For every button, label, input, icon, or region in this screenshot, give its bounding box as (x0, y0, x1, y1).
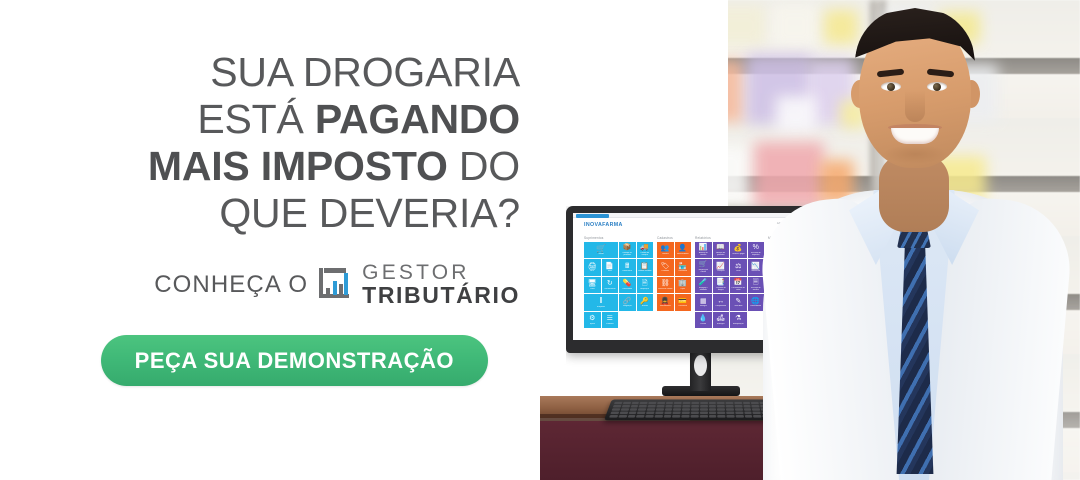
dashboard-tile-label: Nota (608, 270, 612, 272)
keyboard-key[interactable] (717, 405, 725, 407)
keyboard-key[interactable] (681, 415, 689, 418)
dashboard-tile[interactable]: 📖Análise de produtos (713, 242, 730, 259)
keyboard-key[interactable] (630, 405, 638, 407)
box-icon: 📦 (623, 244, 632, 251)
dashboard-tile-label: Convênios (678, 305, 687, 307)
keyboard-key[interactable] (655, 412, 663, 415)
keyboard-key[interactable] (627, 415, 636, 418)
dashboard-tile-label: Pedido Telefone (638, 270, 652, 272)
keyboard-key[interactable] (619, 412, 628, 415)
dashboard-tile-label: Vendas por cliente (696, 269, 711, 273)
dashboard-tile-label: Comparativo (715, 305, 726, 307)
dashboard-tile-label: Transferência (604, 288, 616, 290)
chin-shadow (883, 144, 947, 164)
request-demo-button[interactable]: PEÇA SUA DEMONSTRAÇÃO (101, 335, 488, 386)
dashboard-tile[interactable]: 🖨NF-e (584, 259, 601, 276)
dashboard-tile[interactable]: 🖩Conferência (619, 259, 636, 276)
logo-word-tributario: TRIBUTÁRIO (362, 284, 520, 307)
keyboard-key[interactable] (613, 405, 622, 407)
keyboard-key[interactable] (648, 402, 656, 404)
keyboard-key[interactable] (622, 402, 630, 404)
users-icon: 👥 (661, 245, 670, 252)
dashboard-tile-label: Requisição (640, 288, 649, 290)
grid-icon: ▦ (700, 298, 707, 305)
page-title: SUA DROGARIA ESTÁ PAGANDO MAIS IMPOSTO D… (148, 49, 520, 237)
book-icon: 📖 (716, 244, 725, 251)
keyboard-key[interactable] (665, 405, 673, 407)
keyboard-key[interactable] (640, 402, 648, 404)
keyboard-key[interactable] (674, 405, 682, 407)
keyboard-key[interactable] (683, 402, 691, 404)
tile-grid: 👥Clientes👤Fornecedores🏷Produtos🏪Convênio… (657, 242, 691, 311)
monitor-icon: 🖥 (588, 280, 597, 287)
dashboard-tile-label: Manipulação (733, 323, 744, 325)
pen-icon: ✎ (735, 298, 741, 305)
dashboard-tile-label: Análise de vendas (696, 252, 711, 256)
dashboard-tile-label: Conferência (622, 270, 632, 272)
keyboard-key[interactable] (734, 402, 742, 404)
dashboard-tile-label: Lucro (736, 270, 741, 272)
bar-2 (333, 281, 337, 295)
keyboard-key[interactable] (657, 402, 665, 404)
keyboard-key[interactable] (664, 412, 672, 415)
keyboard-key[interactable] (620, 408, 629, 410)
cart-icon: 🛒 (596, 245, 606, 253)
file-icon: 🗎 (642, 280, 648, 287)
document-icon: 📄 (605, 263, 614, 270)
dashboard-tile[interactable]: 📈Compras (713, 259, 730, 276)
keyboard-key[interactable] (726, 405, 734, 407)
left-content: SUA DROGARIA ESTÁ PAGANDO MAIS IMPOSTO D… (40, 0, 520, 480)
barcode-icon: ‖ (599, 297, 602, 305)
dashboard-tile[interactable]: ‖Etiquetas (584, 294, 618, 311)
keyboard-key[interactable] (663, 415, 671, 418)
dashboard-tile[interactable]: ⚙Ajuste (584, 312, 601, 329)
keyboard-key[interactable] (699, 415, 707, 418)
keyboard-key[interactable] (656, 408, 664, 410)
sync-icon: ↻ (607, 280, 613, 287)
keyboard-key[interactable] (674, 402, 682, 404)
keyboard-key[interactable] (656, 405, 664, 407)
dashboard-tile[interactable]: 🗎Requisição (637, 277, 654, 294)
tile-group-header: Cadastros (657, 236, 691, 240)
dashboard-tile-label: Convênios (678, 270, 687, 272)
app-title: INOVAFARMA (584, 222, 623, 228)
keyboard-key[interactable] (648, 405, 656, 407)
keyboard-key[interactable] (610, 412, 619, 415)
dashboard-tile[interactable]: 🔑Acesso (637, 294, 654, 311)
headline-line-3-bold: MAIS IMPOSTO (148, 143, 448, 189)
flask-icon: 🧪 (699, 279, 708, 286)
keyboard-key[interactable] (638, 408, 646, 410)
dashboard-tile[interactable]: ☰Produtos (602, 312, 619, 329)
bar-chart-top-rule (324, 268, 346, 273)
keyboard-key[interactable] (709, 412, 717, 415)
shuffle-icon: ↔ (717, 298, 724, 305)
bar-chart-bars (326, 281, 343, 295)
dashboard-tile-label: Estoque e validade (696, 287, 711, 291)
dashboard-tile[interactable]: 📋Pedido Telefone (637, 259, 654, 276)
bar-3 (339, 284, 343, 295)
dashboard-tile[interactable]: ⛓Planos de contas (657, 277, 674, 294)
monitor-stand-highlight (694, 355, 707, 376)
dashboard-tile-label: Entrada de produtos (620, 252, 635, 256)
dashboard-tile[interactable]: 👥Clientes (657, 242, 674, 259)
headline-line-4: QUE DEVERIA? (219, 190, 520, 236)
dashboard-tile[interactable]: ↔Comparativo (713, 294, 730, 311)
keyboard-key[interactable] (735, 412, 743, 415)
dashboard-tile[interactable]: 🛒Venda (584, 242, 618, 259)
dashboard-tile[interactable]: 📊Análise de vendas (695, 242, 712, 259)
keyboard-key[interactable] (673, 408, 681, 410)
logo-word-gestor: GESTOR (362, 262, 520, 283)
pupil-left (887, 83, 895, 91)
dashboard-tile-label: Planos de contas (658, 288, 673, 290)
keyboard-key[interactable] (717, 415, 725, 418)
keyboard-key[interactable] (631, 402, 639, 404)
dashboard-tile[interactable]: 🚚Pedido de compra (637, 242, 654, 259)
list-icon: ☰ (607, 315, 613, 322)
headline-line-2-bold: PAGANDO (315, 96, 520, 142)
promo-banner: INOVAFARMA Administrador Suprimentos🛒Ven… (0, 0, 1080, 480)
keyboard-key[interactable] (690, 415, 698, 418)
pill-icon: 💊 (623, 280, 632, 287)
dashboard-tile-label: Produtos (661, 270, 669, 272)
keyboard-key[interactable] (654, 415, 662, 418)
keyboard-key[interactable] (682, 405, 690, 407)
dashboard-tile-label: Caixa (590, 288, 595, 290)
keyboard-key[interactable] (665, 402, 673, 404)
dashboard-tile-label: Produtos (606, 323, 614, 325)
keyboard-key[interactable] (645, 415, 654, 418)
keyboard-key[interactable] (636, 415, 645, 418)
dashboard-tile-label: Venda (598, 253, 603, 255)
keyboard-key[interactable] (664, 408, 672, 410)
mortar-icon: ⚗ (735, 315, 741, 322)
dashboard-tile[interactable]: 📑Controle de drogas (713, 277, 730, 294)
logo-wordmark: GESTOR TRIBUTÁRIO (362, 262, 520, 307)
keyboard-key[interactable] (700, 402, 708, 404)
pharmacist-photo (745, 0, 1080, 480)
keyboard-key[interactable] (646, 412, 654, 415)
link-icon: 🔗 (623, 298, 632, 305)
keyboard-key[interactable] (637, 412, 645, 415)
dashboard-tile-label: Ajuste (590, 323, 595, 325)
tile-group: Cadastros👥Clientes👤Fornecedores🏷Produtos… (657, 236, 691, 311)
truck-icon: 🚚 (640, 244, 649, 251)
dashboard-tile-label: Fechamento de caixa (731, 287, 746, 291)
tile-grid: 🛒Venda📦Entrada de produtos🚚Pedido de com… (584, 242, 653, 329)
cart-report-icon: 🛒 (699, 261, 708, 268)
monitor-stand-neck (690, 351, 711, 391)
dashboard-tile-label: Perdas (700, 323, 706, 325)
chart-pie-icon: 📈 (716, 263, 725, 270)
dashboard-tile[interactable]: 📄Nota (602, 259, 619, 276)
dashboard-tile-label: Contas a pagar (732, 253, 745, 255)
app-browser-tab[interactable] (576, 214, 609, 218)
keyboard-key[interactable] (708, 408, 716, 410)
keyboard-key[interactable] (726, 415, 734, 418)
keyboard-key[interactable] (717, 402, 725, 404)
keyboard-key[interactable] (691, 408, 699, 410)
money-icon: 💰 (734, 245, 743, 252)
keyboard-key[interactable] (629, 408, 637, 410)
conheca-label: CONHEÇA O (154, 271, 308, 299)
dashboard-tile-label: Integração (623, 305, 632, 307)
dashboard-tile-label: Pedido de compra (637, 252, 652, 256)
headline-line-1: SUA DROGARIA (210, 49, 520, 95)
keyboard-key[interactable] (726, 402, 734, 404)
keyboard-key[interactable] (639, 405, 647, 407)
dashboard-tile-label: Funcionários (660, 305, 671, 307)
dashboard-tile[interactable]: 🔗Integração (619, 294, 636, 311)
keyboard-key[interactable] (735, 415, 743, 418)
keyboard-key[interactable] (735, 408, 743, 410)
dashboard-tile[interactable]: 📦Entrada de produtos (619, 242, 636, 259)
chart-bar-icon: 📊 (699, 244, 708, 251)
bar-chart-icon (319, 268, 357, 301)
printer-icon: 🖨 (588, 263, 597, 270)
dashboard-tile-label: Acesso (642, 305, 648, 307)
dashboard-tile[interactable]: 💧Perdas (695, 312, 712, 329)
keyboard-key[interactable] (708, 405, 716, 407)
keyboard-key[interactable] (609, 415, 618, 418)
bar-1 (326, 288, 330, 295)
keyboard-key[interactable] (691, 402, 699, 404)
keyboard-key[interactable] (614, 402, 622, 404)
settings-icon: ⚙ (589, 315, 595, 322)
dashboard-tile[interactable]: 🛒Vendas por cliente (695, 259, 712, 276)
dashboard-tile[interactable]: 🏢Lojas (675, 277, 692, 294)
keyboard-key[interactable] (726, 412, 734, 415)
dashboard-tile[interactable]: 🏪Convênios (675, 259, 692, 276)
drop-icon: 💧 (699, 315, 708, 322)
keyboard-key[interactable] (682, 412, 690, 415)
building-icon: 🏢 (678, 280, 687, 287)
store-icon: 🏪 (678, 263, 687, 270)
clipboard2-icon: 📑 (716, 279, 725, 286)
keyboard-key[interactable] (682, 408, 690, 410)
bar-4 (344, 273, 348, 295)
brand-lockup: CONHEÇA O GESTOR TRIBUTÁRIO (154, 262, 520, 307)
dashboard-tile[interactable]: ↻Transferência (602, 277, 619, 294)
dashboard-tile-label: Análise de produtos (713, 252, 728, 256)
card-icon: 💳 (678, 298, 687, 305)
keyboard-key[interactable] (672, 415, 680, 418)
gestor-tributario-logo: GESTOR TRIBUTÁRIO (319, 262, 520, 307)
nose (905, 90, 925, 122)
scale-icon: ⚖ (735, 263, 741, 270)
keyboard-key[interactable] (708, 402, 716, 404)
dashboard-tile-label: Sintegra (700, 305, 707, 307)
keyboard-key[interactable] (726, 408, 734, 410)
employee-icon: 💂 (661, 298, 670, 305)
keyboard-key[interactable] (709, 415, 717, 418)
sofa-icon: 🛋 (716, 315, 725, 322)
dashboard-tile-label: Etiquetas (597, 306, 605, 308)
dashboard-tile[interactable]: 💂Funcionários (657, 294, 674, 311)
keyboard-key[interactable] (700, 412, 708, 415)
dashboard-tile[interactable]: 🧪Estoque e validade (695, 277, 712, 294)
tile-group: Suprimentos🛒Venda📦Entrada de produtos🚚Pe… (584, 236, 653, 328)
dashboard-tile-label: Lojas (680, 288, 685, 290)
dashboard-tile[interactable]: 💳Convênios (675, 294, 692, 311)
tag-icon: 🏷 (661, 263, 670, 270)
keyboard-key[interactable] (717, 408, 725, 410)
keyboard-key[interactable] (700, 405, 708, 407)
keyboard-key[interactable] (673, 412, 681, 415)
dashboard-tile-label: Clientes (662, 253, 669, 255)
dashboard-tile[interactable]: ▦Sintegra (695, 294, 712, 311)
keyboard-key[interactable] (691, 412, 699, 415)
calendar-icon: 📅 (734, 279, 743, 286)
dashboard-tile-label: Curva ABC (734, 305, 743, 307)
dashboard-tile[interactable]: 👤Fornecedores (675, 242, 692, 259)
dashboard-tile-label: Entregas (717, 323, 725, 325)
tile-group-header: Suprimentos (584, 236, 653, 240)
calculator-icon: 🖩 (625, 263, 629, 270)
keyboard-key[interactable] (717, 412, 725, 415)
clipboard-icon: 📋 (640, 263, 649, 270)
dashboard-tile-label: Fornecedores (677, 253, 689, 255)
dashboard-tile[interactable]: 🛋Entregas (713, 312, 730, 329)
headline-line-2-normal: ESTÁ (197, 96, 314, 142)
key-icon: 🔑 (640, 298, 649, 305)
dashboard-tile-label: Controle de drogas (713, 287, 728, 291)
keyboard-key[interactable] (647, 408, 655, 410)
dashboard-tile-label: Compras (717, 270, 725, 272)
keyboard-key[interactable] (628, 412, 637, 415)
headline-line-3-normal: DO (448, 143, 520, 189)
dashboard-tile-label: Controlados (622, 288, 632, 290)
dashboard-tile-label: NF-e (590, 270, 594, 272)
pupil-right (933, 83, 941, 91)
dashboard-tile[interactable]: 🏷Produtos (657, 259, 674, 276)
keyboard-key[interactable] (618, 415, 627, 418)
keyboard-key[interactable] (691, 405, 699, 407)
keyboard-key[interactable] (734, 405, 742, 407)
dashboard-tile[interactable]: 💊Controlados (619, 277, 636, 294)
keyboard-key[interactable] (700, 408, 708, 410)
network-icon: ⛓ (661, 280, 670, 287)
keyboard-key[interactable] (621, 405, 629, 407)
keyboard-key[interactable] (612, 408, 621, 410)
dashboard-tile[interactable]: 🖥Caixa (584, 277, 601, 294)
user-icon: 👤 (678, 245, 687, 252)
